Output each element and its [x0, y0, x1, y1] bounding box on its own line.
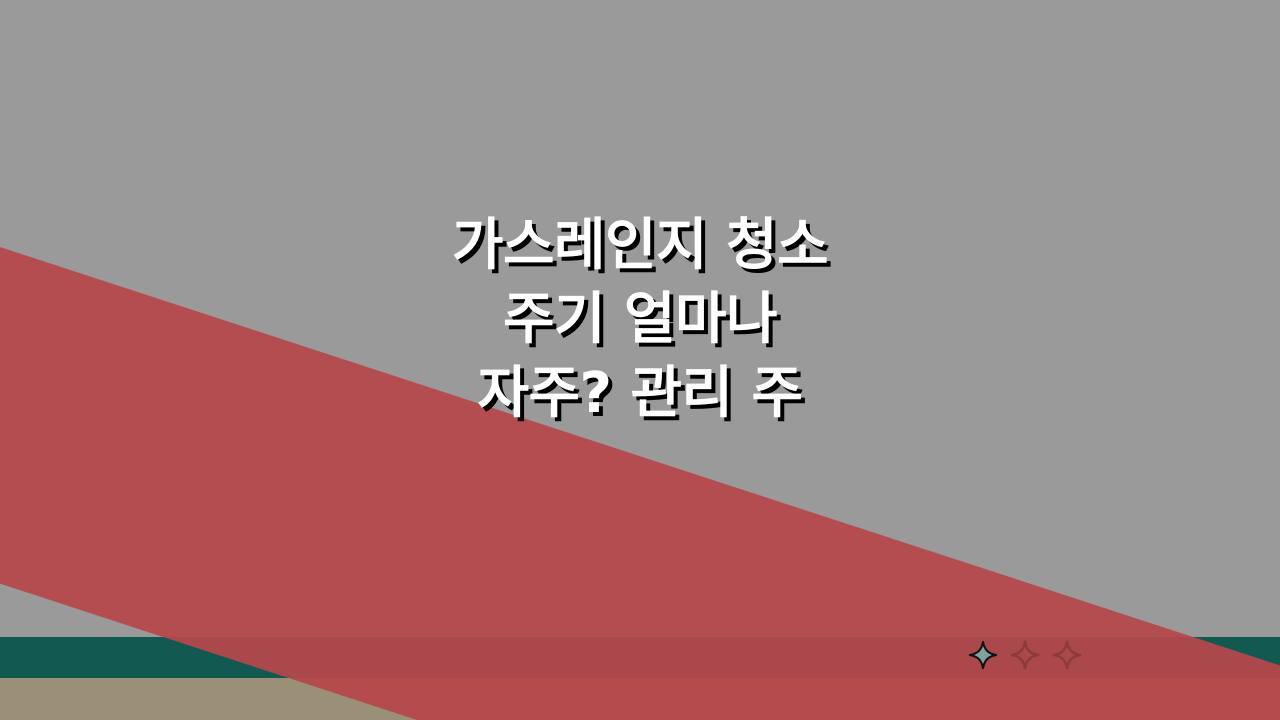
sparkle-diamond-icon	[968, 640, 998, 670]
sparkle-diamond-icon	[1052, 640, 1082, 670]
thumbnail-canvas: 가스레인지 청소 주기 얼마나 자주? 관리 주	[0, 0, 1280, 720]
sparkle-row	[968, 636, 1082, 674]
diagonal-red-banner	[0, 198, 1280, 720]
sparkle-diamond-icon	[1010, 640, 1040, 670]
